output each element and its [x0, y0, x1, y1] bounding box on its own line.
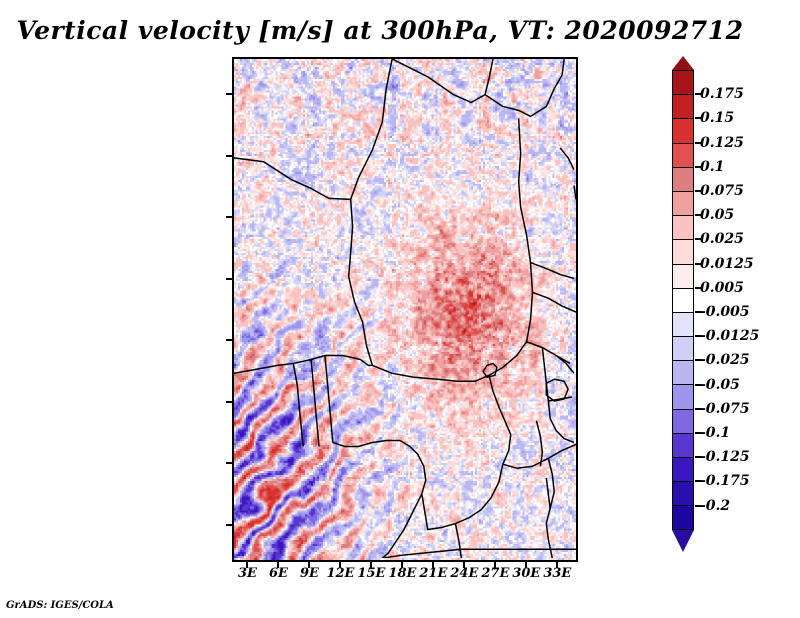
lon-label-30e: 30E	[512, 566, 540, 581]
colorbar-band-9	[672, 288, 694, 312]
colorbar-tick	[695, 335, 701, 337]
colorbar-tick	[695, 359, 701, 361]
lon-label-24e: 24E	[450, 566, 478, 581]
country-borders-overlay	[234, 59, 576, 558]
colorbar-label-16: -0.175	[700, 473, 750, 489]
colorbar-label-5: 0.05	[700, 207, 734, 223]
lon-tick	[308, 562, 310, 568]
map-plot-area	[232, 57, 578, 562]
lon-tick	[401, 562, 403, 568]
colorbar-band-12	[672, 360, 694, 384]
lon-tick	[494, 562, 496, 568]
colorbar-label-7: 0.0125	[700, 256, 754, 272]
colorbar-tick	[695, 408, 701, 410]
colorbar-band-1	[672, 94, 694, 118]
colorbar-tick	[695, 505, 701, 507]
lon-label-3e: 3E	[238, 566, 257, 581]
colorbar-label-11: -0.025	[700, 352, 750, 368]
colorbar-tick	[695, 238, 701, 240]
colorbar-tick	[695, 311, 701, 313]
lon-tick	[370, 562, 372, 568]
lon-label-27e: 27E	[481, 566, 509, 581]
lat-tick	[226, 462, 232, 464]
page-title: Vertical velocity [m/s] at 300hPa, VT: 2…	[0, 16, 760, 45]
colorbar-tick	[695, 480, 701, 482]
colorbar-tick	[695, 456, 701, 458]
colorbar-band-15	[672, 433, 694, 457]
colorbar-band-13	[672, 384, 694, 408]
colorbar-band-4	[672, 167, 694, 191]
lat-tick	[226, 93, 232, 95]
colorbar-band-14	[672, 409, 694, 433]
lat-tick	[226, 155, 232, 157]
lon-tick	[525, 562, 527, 568]
colorbar-band-3	[672, 143, 694, 167]
colorbar-label-2: 0.125	[700, 135, 744, 151]
colorbar-top-arrow	[672, 56, 694, 70]
lon-label-15e: 15E	[357, 566, 385, 581]
grads-credit: GrADS: IGES/COLA	[6, 600, 114, 611]
colorbar-tick	[695, 190, 701, 192]
colorbar-band-18	[672, 505, 694, 529]
colorbar-label-17: -0.2	[700, 498, 730, 514]
lat-tick	[226, 216, 232, 218]
colorbar-tick	[695, 432, 701, 434]
colorbar-label-8: 0.005	[700, 280, 744, 296]
lat-tick	[226, 524, 232, 526]
colorbar-band-2	[672, 118, 694, 142]
colorbar-bottom-arrow	[672, 530, 694, 552]
lat-tick	[226, 401, 232, 403]
colorbar-label-14: -0.1	[700, 425, 730, 441]
colorbar-tick	[695, 263, 701, 265]
lon-label-6e: 6E	[269, 566, 288, 581]
colorbar	[672, 70, 694, 530]
colorbar-label-1: 0.15	[700, 110, 734, 126]
colorbar-label-13: -0.075	[700, 401, 750, 417]
colorbar-tick	[695, 166, 701, 168]
lon-tick	[277, 562, 279, 568]
lon-label-18e: 18E	[388, 566, 416, 581]
lat-tick	[226, 339, 232, 341]
colorbar-band-17	[672, 481, 694, 505]
lon-label-12e: 12E	[326, 566, 354, 581]
lon-tick	[432, 562, 434, 568]
lat-tick	[226, 278, 232, 280]
colorbar-tick	[695, 93, 701, 95]
lon-label-33e: 33E	[543, 566, 571, 581]
colorbar-band-5	[672, 191, 694, 215]
colorbar-band-7	[672, 239, 694, 263]
lon-label-9e: 9E	[300, 566, 319, 581]
colorbar-tick	[695, 214, 701, 216]
colorbar-band-0	[672, 70, 694, 94]
colorbar-label-15: -0.125	[700, 449, 750, 465]
lon-tick	[246, 562, 248, 568]
colorbar-label-4: 0.075	[700, 183, 744, 199]
colorbar-label-9: -0.005	[700, 304, 750, 320]
colorbar-label-0: 0.175	[700, 86, 744, 102]
colorbar-label-6: 0.025	[700, 231, 744, 247]
lon-label-21e: 21E	[419, 566, 447, 581]
colorbar-tick	[695, 142, 701, 144]
colorbar-label-10: -0.0125	[700, 328, 759, 344]
colorbar-tick	[695, 117, 701, 119]
colorbar-tick	[695, 287, 701, 289]
colorbar-label-12: -0.05	[700, 377, 740, 393]
lon-tick	[339, 562, 341, 568]
colorbar-band-11	[672, 336, 694, 360]
colorbar-band-8	[672, 264, 694, 288]
colorbar-band-6	[672, 215, 694, 239]
lon-tick	[556, 562, 558, 568]
colorbar-label-3: 0.1	[700, 159, 724, 175]
colorbar-tick	[695, 384, 701, 386]
lon-tick	[463, 562, 465, 568]
colorbar-band-16	[672, 457, 694, 481]
colorbar-band-10	[672, 312, 694, 336]
